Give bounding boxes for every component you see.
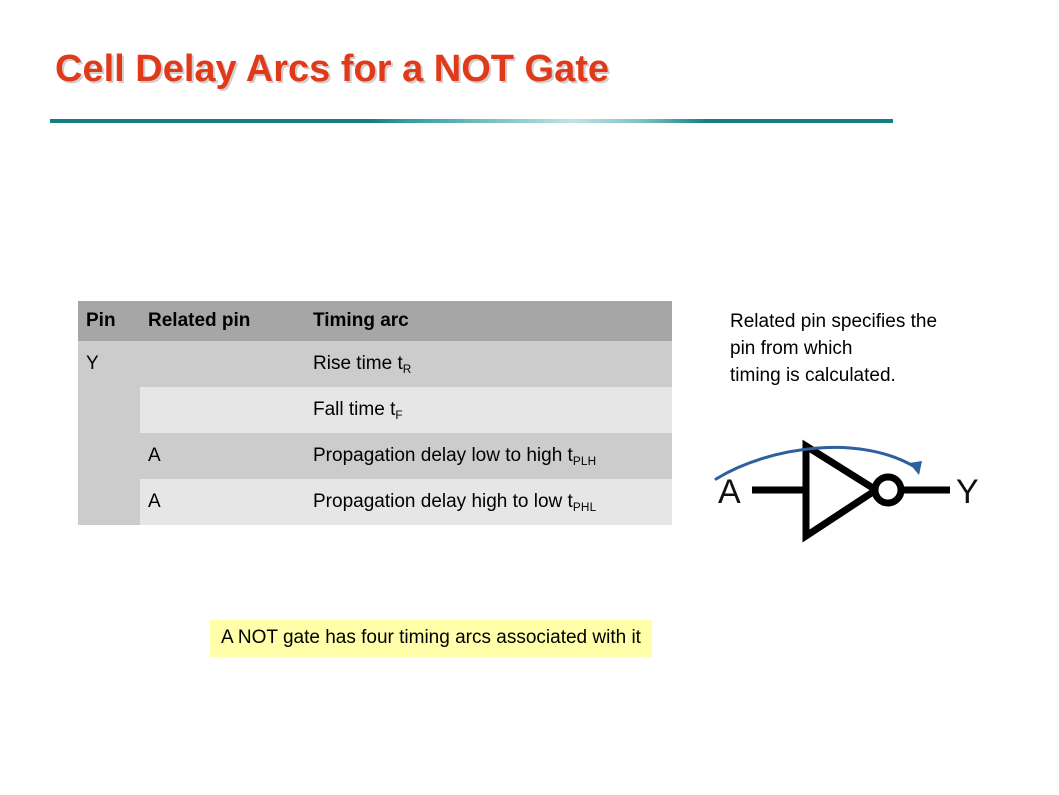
timing-arc-text: Propagation delay high to low t (313, 491, 573, 512)
summary-caption: A NOT gate has four timing arcs associat… (210, 620, 652, 657)
inversion-bubble-icon (875, 477, 901, 503)
title-divider-rule (50, 119, 893, 123)
cell-related-pin: A (140, 433, 300, 479)
table-row: Fall time tF (78, 387, 672, 433)
cell-related-pin: A (140, 479, 300, 525)
table-row: A Propagation delay low to high tPLH (78, 433, 672, 479)
timing-arc-arrowhead-icon (909, 461, 922, 475)
input-pin-label: A (718, 473, 741, 511)
timing-arc-subscript: PLH (573, 455, 597, 468)
cell-timing-arc: Rise time tR (300, 341, 672, 387)
cell-related-pin (140, 341, 300, 387)
table-body: Y Rise time tR Fall time tF A Propagatio… (78, 341, 672, 525)
timing-arc-table: Pin Related pin Timing arc Y Rise time t… (78, 301, 672, 525)
related-pin-note: Related pin specifies the pin from which… (730, 308, 1020, 389)
table-header: Pin Related pin Timing arc (78, 301, 672, 341)
slide-canvas: Cell Delay Arcs for a NOT Gate Pin Relat… (0, 0, 1059, 795)
column-header-related-pin: Related pin (140, 301, 300, 341)
cell-pin (78, 479, 140, 525)
note-line-1: Related pin specifies the (730, 308, 1020, 335)
cell-timing-arc: Propagation delay low to high tPLH (300, 433, 672, 479)
cell-timing-arc: Propagation delay high to low tPHL (300, 479, 672, 525)
table-header-row: Pin Related pin Timing arc (78, 301, 672, 341)
column-header-pin: Pin (78, 301, 140, 341)
column-header-timing-arc: Timing arc (300, 301, 672, 341)
note-line-2: pin from which (730, 335, 1020, 362)
cell-timing-arc: Fall time tF (300, 387, 672, 433)
cell-related-pin (140, 387, 300, 433)
gate-triangle (806, 446, 876, 536)
note-line-3: timing is calculated. (730, 362, 1020, 389)
cell-pin (78, 387, 140, 433)
cell-pin: Y (78, 341, 140, 387)
timing-arc-text: Rise time t (313, 353, 403, 374)
table-row: Y Rise time tR (78, 341, 672, 387)
cell-pin (78, 433, 140, 479)
output-pin-label: Y (956, 473, 979, 511)
timing-arc-text: Propagation delay low to high t (313, 445, 573, 466)
page-title: Cell Delay Arcs for a NOT Gate (55, 48, 609, 91)
timing-arc-subscript: PHL (573, 501, 597, 514)
timing-arc-text: Fall time t (313, 399, 395, 420)
timing-arc-subscript: R (403, 363, 412, 376)
not-gate-icon: A Y (710, 420, 1010, 560)
timing-arc-subscript: F (395, 409, 402, 422)
table-row: A Propagation delay high to low tPHL (78, 479, 672, 525)
not-gate-diagram: A Y (710, 420, 1010, 560)
